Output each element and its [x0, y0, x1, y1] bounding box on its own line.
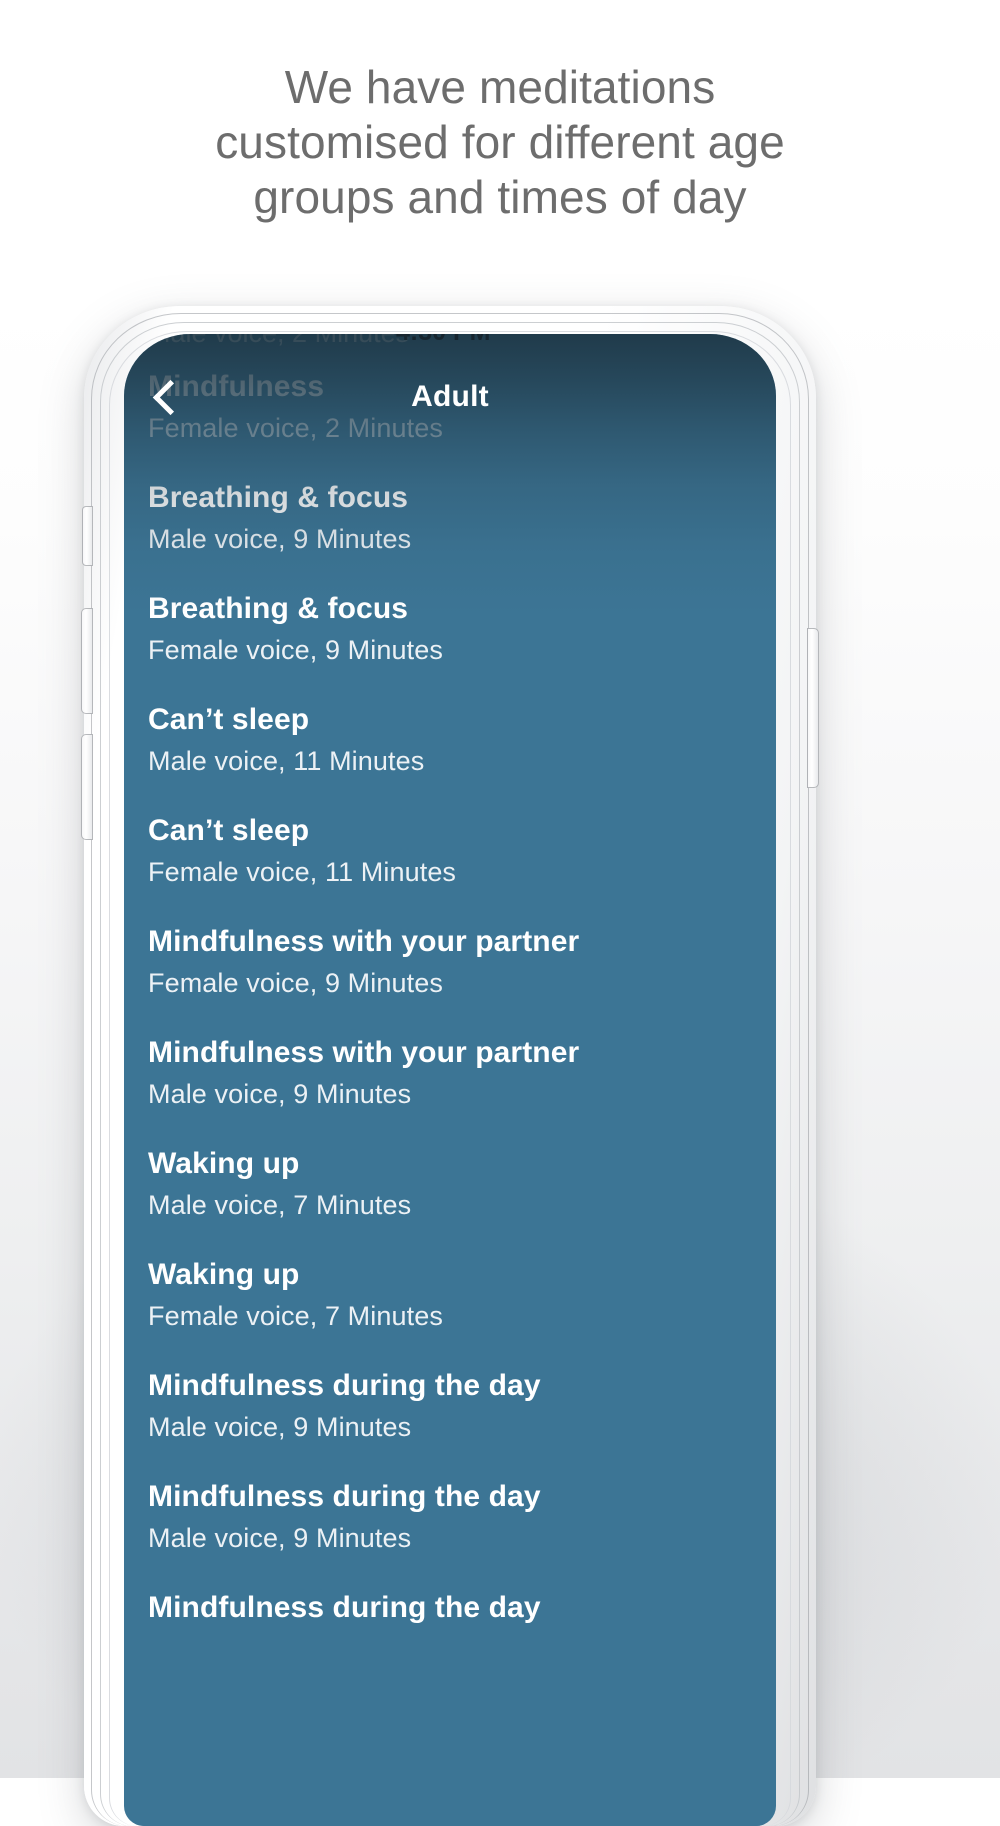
- list-item-subtitle: Male voice, 9 Minutes: [148, 1410, 776, 1444]
- list-item-subtitle: Male voice, 9 Minutes: [148, 522, 776, 556]
- list-item[interactable]: Mindfulness during the day Male voice, 9…: [124, 1478, 776, 1555]
- list-item-subtitle: Female voice, 7 Minutes: [148, 1299, 776, 1333]
- list-item[interactable]: Mindfulness during the day Male voice, 9…: [124, 1367, 776, 1444]
- list-item-title: Breathing & focus: [148, 590, 776, 628]
- list-item-subtitle: Female voice, 9 Minutes: [148, 966, 776, 1000]
- volume-up-button[interactable]: [81, 608, 93, 714]
- list-item[interactable]: Mindfulness during the day: [124, 1589, 776, 1627]
- list-item-title: Breathing & focus: [148, 479, 776, 517]
- list-item-subtitle: Male voice, 7 Minutes: [148, 1188, 776, 1222]
- list-item[interactable]: Mindfulness with your partner Female voi…: [124, 923, 776, 1000]
- list-item[interactable]: Waking up Female voice, 7 Minutes: [124, 1256, 776, 1333]
- meditation-list[interactable]: Mindfulness Female voice, 2 Minutes Brea…: [124, 334, 776, 1826]
- phone-mockup: Mindfulness Female voice, 2 Minutes Brea…: [84, 306, 816, 1826]
- list-item-title: Mindfulness during the day: [148, 1367, 776, 1405]
- status-bar-time: 4:30 PM: [396, 334, 490, 347]
- phone-screen: Mindfulness Female voice, 2 Minutes Brea…: [124, 334, 776, 1826]
- list-item[interactable]: Can’t sleep Male voice, 11 Minutes: [124, 701, 776, 778]
- status-bar-clipped-text: Male voice, 2 Minutes: [148, 334, 409, 349]
- list-item-title: Can’t sleep: [148, 812, 776, 850]
- list-item[interactable]: Breathing & focus Female voice, 9 Minute…: [124, 590, 776, 667]
- navigation-bar: Adult: [124, 364, 776, 430]
- list-item-title: Mindfulness with your partner: [148, 923, 776, 961]
- power-button[interactable]: [807, 628, 819, 788]
- status-bar: Male voice, 2 Minutes 4:30 PM •: [124, 334, 776, 364]
- list-item-subtitle: Female voice, 9 Minutes: [148, 633, 776, 667]
- list-item-subtitle: Male voice, 9 Minutes: [148, 1077, 776, 1111]
- list-item[interactable]: Waking up Male voice, 7 Minutes: [124, 1145, 776, 1222]
- page-title: Adult: [124, 364, 776, 430]
- mute-switch[interactable]: [82, 506, 93, 566]
- list-item-title: Waking up: [148, 1145, 776, 1183]
- list-item-subtitle: Female voice, 11 Minutes: [148, 855, 776, 889]
- list-item-title: Mindfulness with your partner: [148, 1034, 776, 1072]
- list-item-title: Can’t sleep: [148, 701, 776, 739]
- list-item-title: Waking up: [148, 1256, 776, 1294]
- list-item-subtitle: Male voice, 9 Minutes: [148, 1521, 776, 1555]
- list-item[interactable]: Mindfulness with your partner Male voice…: [124, 1034, 776, 1111]
- status-bar-indicators: •: [746, 334, 754, 346]
- list-item-title: Mindfulness during the day: [148, 1478, 776, 1516]
- page-headline: We have meditations customised for diffe…: [50, 60, 950, 225]
- list-item[interactable]: Can’t sleep Female voice, 11 Minutes: [124, 812, 776, 889]
- list-item-subtitle: Male voice, 11 Minutes: [148, 744, 776, 778]
- list-item-title: Mindfulness during the day: [148, 1589, 776, 1627]
- volume-down-button[interactable]: [81, 734, 93, 840]
- list-item[interactable]: Breathing & focus Male voice, 9 Minutes: [124, 479, 776, 556]
